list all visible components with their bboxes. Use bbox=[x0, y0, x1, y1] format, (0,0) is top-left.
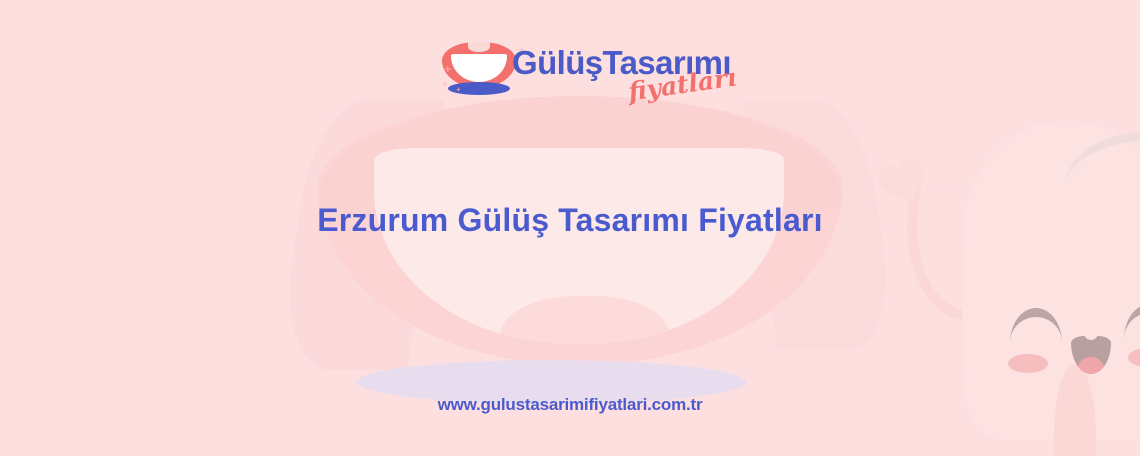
tooth-tongue bbox=[1078, 357, 1104, 374]
watermark-teeth bbox=[374, 148, 784, 344]
tooth-mouth-icon bbox=[1071, 336, 1111, 374]
lips-cleft bbox=[468, 42, 490, 52]
tooth-eye-right-icon bbox=[1124, 304, 1140, 339]
tooth-eye-left-icon bbox=[1010, 308, 1062, 343]
watermark-upper-lip bbox=[318, 96, 842, 216]
sparkle-icon: + bbox=[442, 80, 447, 89]
smiling-lips-icon: + + + + + bbox=[442, 40, 520, 98]
watermark-tongue bbox=[500, 296, 670, 358]
sparkle-icon: + bbox=[456, 86, 461, 94]
tooth-body bbox=[962, 122, 1140, 440]
tooth-shine-highlight bbox=[1062, 124, 1140, 194]
tooth-blush-left bbox=[1008, 354, 1048, 373]
promo-banner: + + + + + GülüşTasarımı fiyatları Erzuru… bbox=[0, 0, 1140, 456]
tooth-blush-right bbox=[1128, 348, 1140, 367]
site-url[interactable]: www.gulustasarimifiyatlari.com.tr bbox=[0, 395, 1140, 415]
sparkle-icon: + bbox=[444, 62, 452, 75]
brand-logo[interactable]: + + + + + GülüşTasarımı fiyatları bbox=[424, 38, 716, 100]
page-title: Erzurum Gülüş Tasarımı Fiyatları bbox=[0, 202, 1140, 239]
